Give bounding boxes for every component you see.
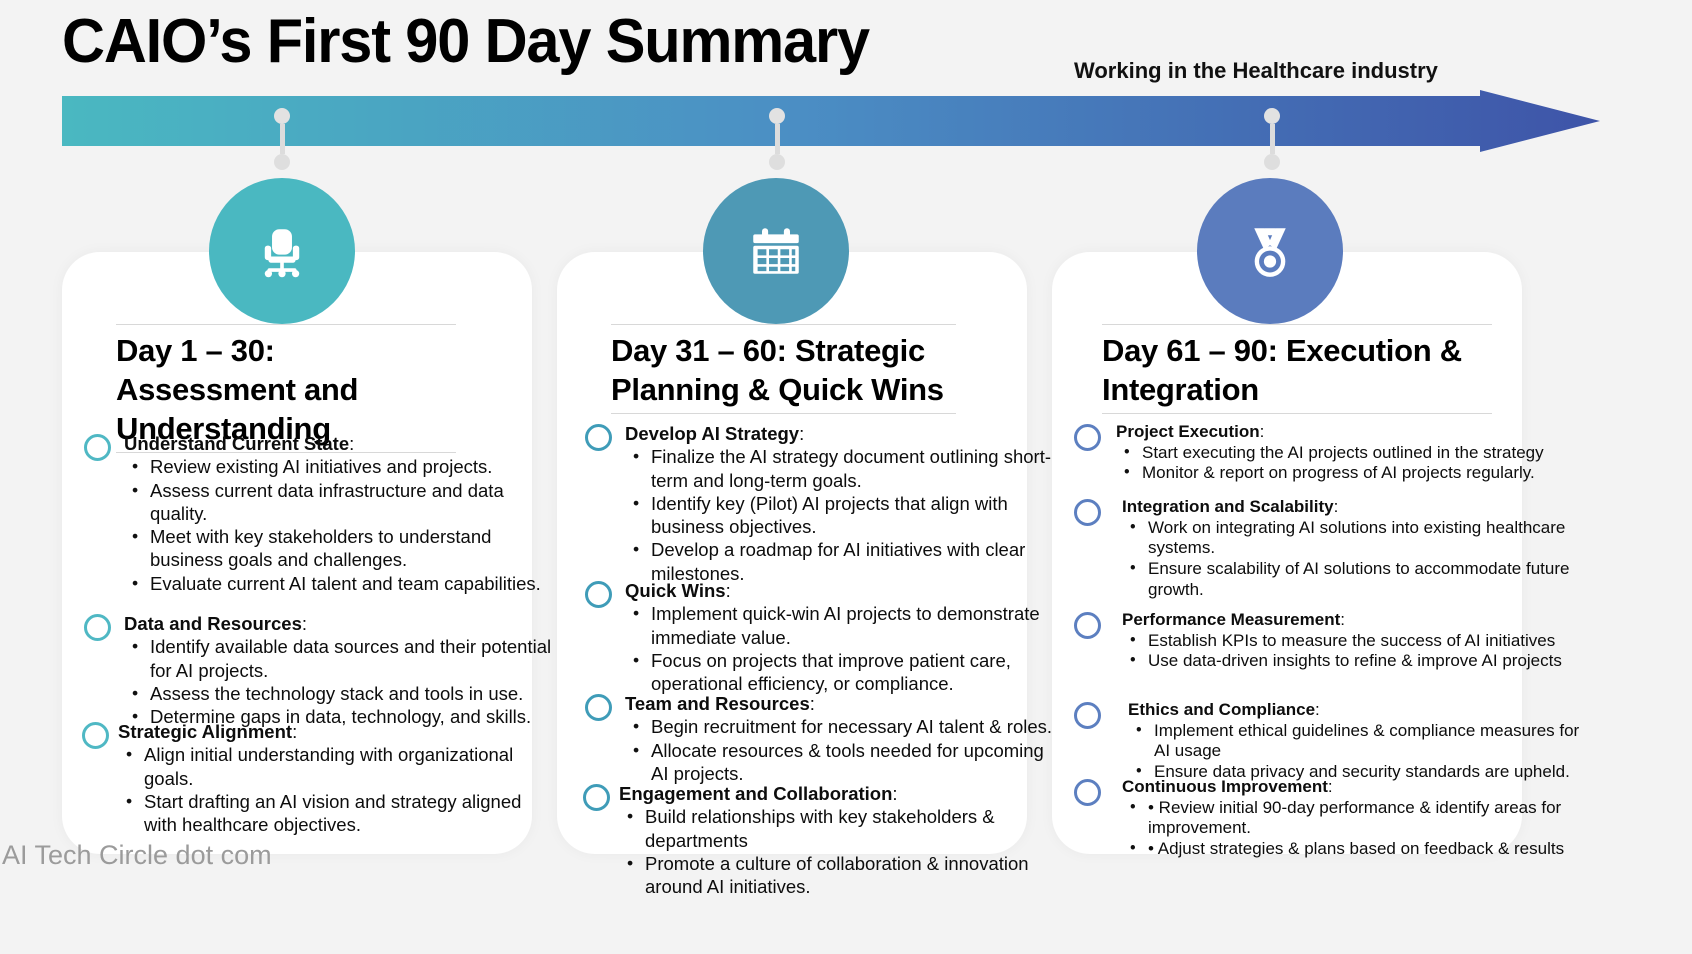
bullet-list: Establish KPIs to measure the success of… xyxy=(1122,631,1594,672)
timeline-arrow xyxy=(62,90,1600,152)
pin-top-dot xyxy=(1264,108,1280,124)
group-marker-ring xyxy=(1074,702,1101,729)
pin-stem xyxy=(280,124,285,154)
group-marker-ring xyxy=(1074,612,1101,639)
group-title: Team and Resources: xyxy=(625,692,1065,715)
group-title: Ethics and Compliance: xyxy=(1128,700,1594,721)
infographic-canvas: CAIO’s First 90 Day Summary Working in t… xyxy=(0,0,1692,954)
bullet-list: • Review initial 90-day performance & id… xyxy=(1122,798,1594,860)
group-develop-ai-strategy: Develop AI Strategy: Finalize the AI str… xyxy=(585,422,1065,585)
group-title: Project Execution: xyxy=(1116,422,1594,443)
stage-circle-1 xyxy=(209,178,355,324)
list-item: • Review initial 90-day performance & id… xyxy=(1122,798,1594,839)
list-item: Promote a culture of collaboration & inn… xyxy=(619,852,1063,899)
group-continuous-improvement: Continuous Improvement: • Review initial… xyxy=(1074,777,1594,860)
list-item: Finalize the AI strategy document outlin… xyxy=(625,445,1065,492)
card-1-content: Day 1 – 30: Assessment and Understanding… xyxy=(62,252,532,854)
bullet-list: Begin recruitment for necessary AI talen… xyxy=(625,715,1065,785)
list-item: Implement ethical guidelines & complianc… xyxy=(1128,721,1594,762)
list-item: Start executing the AI projects outlined… xyxy=(1116,443,1594,464)
group-title: Strategic Alignment: xyxy=(118,720,552,743)
group-title: Data and Resources: xyxy=(124,612,554,635)
list-item: Work on integrating AI solutions into ex… xyxy=(1122,518,1594,559)
bullet-list: Review existing AI initiatives and proje… xyxy=(124,455,544,595)
pin-stem xyxy=(1270,124,1275,154)
group-marker-ring xyxy=(1074,424,1101,451)
stage-circle-3 xyxy=(1197,178,1343,324)
list-item: Monitor & report on progress of AI proje… xyxy=(1116,463,1594,484)
list-item: Allocate resources & tools needed for up… xyxy=(625,739,1065,786)
bullet-list: Finalize the AI strategy document outlin… xyxy=(625,445,1065,585)
group-quick-wins: Quick Wins: Implement quick-win AI proje… xyxy=(585,579,1065,695)
group-engagement-and-collaboration: Engagement and Collaboration: Build rela… xyxy=(583,782,1063,898)
list-item: Assess current data infrastructure and d… xyxy=(124,479,544,526)
page-title: CAIO’s First 90 Day Summary xyxy=(62,6,869,77)
group-marker-ring xyxy=(82,722,109,749)
subtitle: Working in the Healthcare industry xyxy=(1074,58,1438,84)
list-item: Identify available data sources and thei… xyxy=(124,635,554,682)
list-item: Implement quick-win AI projects to demon… xyxy=(625,602,1065,649)
group-strategic-alignment: Strategic Alignment: Align initial under… xyxy=(82,720,552,836)
card-3-content: Day 61 – 90: Execution & Integration Pro… xyxy=(1052,252,1522,854)
group-ethics-and-compliance: Ethics and Compliance: Implement ethical… xyxy=(1074,700,1594,783)
bullet-list: Implement ethical guidelines & complianc… xyxy=(1128,721,1594,783)
bullet-list: Work on integrating AI solutions into ex… xyxy=(1122,518,1594,601)
group-marker-ring xyxy=(583,784,610,811)
pin-bottom-dot xyxy=(274,154,290,170)
group-marker-ring xyxy=(84,614,111,641)
group-integration-and-scalability: Integration and Scalability: Work on int… xyxy=(1074,497,1594,601)
pin-top-dot xyxy=(769,108,785,124)
calendar-icon xyxy=(748,223,804,279)
timeline-pin-3 xyxy=(1264,108,1280,170)
group-title: Performance Measurement: xyxy=(1122,610,1594,631)
list-item: Begin recruitment for necessary AI talen… xyxy=(625,715,1065,738)
group-marker-ring xyxy=(1074,499,1101,526)
group-data-and-resources: Data and Resources: Identify available d… xyxy=(84,612,554,728)
bullet-list: Implement quick-win AI projects to demon… xyxy=(625,602,1065,695)
timeline-pin-1 xyxy=(274,108,290,170)
group-performance-measurement: Performance Measurement: Establish KPIs … xyxy=(1074,610,1594,672)
watermark: AI Tech Circle dot com xyxy=(2,840,272,871)
group-title: Develop AI Strategy: xyxy=(625,422,1065,445)
column-3-heading: Day 61 – 90: Execution & Integration xyxy=(1102,324,1492,414)
list-item: Meet with key stakeholders to understand… xyxy=(124,525,544,572)
list-item: Focus on projects that improve patient c… xyxy=(625,649,1065,696)
group-project-execution: Project Execution: Start executing the A… xyxy=(1074,422,1594,484)
list-item: Align initial understanding with organiz… xyxy=(118,743,552,790)
group-title: Engagement and Collaboration: xyxy=(619,782,1063,805)
pin-top-dot xyxy=(274,108,290,124)
bullet-list: Identify available data sources and thei… xyxy=(124,635,554,728)
group-title: Quick Wins: xyxy=(625,579,1065,602)
group-title: Continuous Improvement: xyxy=(1122,777,1594,798)
list-item: Use data-driven insights to refine & imp… xyxy=(1122,651,1594,672)
bullet-list: Start executing the AI projects outlined… xyxy=(1116,443,1594,484)
column-2-heading: Day 31 – 60: Strategic Planning & Quick … xyxy=(611,324,956,414)
group-title: Integration and Scalability: xyxy=(1122,497,1594,518)
group-marker-ring xyxy=(1074,779,1101,806)
list-item: Review existing AI initiatives and proje… xyxy=(124,455,544,478)
list-item: Identify key (Pilot) AI projects that al… xyxy=(625,492,1065,539)
list-item: Ensure scalability of AI solutions to ac… xyxy=(1122,559,1594,600)
group-team-and-resources: Team and Resources: Begin recruitment fo… xyxy=(585,692,1065,785)
bullet-list: Build relationships with key stakeholder… xyxy=(619,805,1063,898)
office-chair-icon xyxy=(253,222,311,280)
stage-circle-2 xyxy=(703,178,849,324)
medal-icon xyxy=(1242,223,1298,279)
pin-bottom-dot xyxy=(1264,154,1280,170)
group-title: Understand Current State: xyxy=(124,432,544,455)
pin-stem xyxy=(775,124,780,154)
bullet-list: Align initial understanding with organiz… xyxy=(118,743,552,836)
list-item: Evaluate current AI talent and team capa… xyxy=(124,572,544,595)
group-marker-ring xyxy=(585,694,612,721)
group-marker-ring xyxy=(585,581,612,608)
list-item: • Adjust strategies & plans based on fee… xyxy=(1122,839,1594,860)
pin-bottom-dot xyxy=(769,154,785,170)
list-item: Start drafting an AI vision and strategy… xyxy=(118,790,552,837)
list-item: Establish KPIs to measure the success of… xyxy=(1122,631,1594,652)
group-marker-ring xyxy=(84,434,111,461)
list-item: Assess the technology stack and tools in… xyxy=(124,682,554,705)
card-2-content: Day 31 – 60: Strategic Planning & Quick … xyxy=(557,252,1027,854)
group-marker-ring xyxy=(585,424,612,451)
list-item: Build relationships with key stakeholder… xyxy=(619,805,1063,852)
group-understand-current-state: Understand Current State: Review existin… xyxy=(84,432,544,595)
timeline-pin-2 xyxy=(769,108,785,170)
